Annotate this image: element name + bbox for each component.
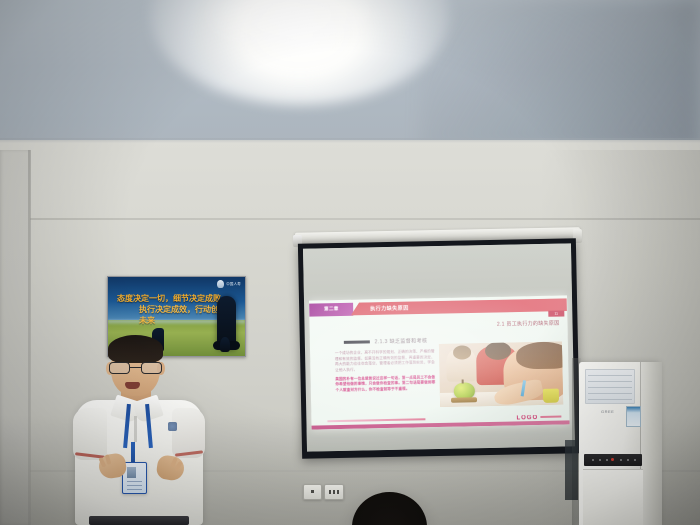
brand-mark-icon [217, 280, 224, 288]
slide-section-heading: 2.1.3 缺乏监督和考核 [375, 337, 428, 345]
projected-slide: 第二章 执行力缺失原因 11 2.1 员工执行力的缺失原因 2.1.3 缺乏监督… [309, 295, 569, 429]
dark-wall-panel [565, 440, 578, 500]
badge-photo [127, 467, 136, 478]
presenter-mouth [125, 382, 140, 389]
slide-page-number: 11 [554, 311, 558, 315]
glasses-lens-right [141, 362, 162, 374]
slide-header-banner: 执行力缺失原因 [351, 298, 567, 315]
air-conditioner[interactable]: GREE [579, 362, 662, 525]
poster-slogan-line1: 态度决定一切，细节决定成败 [117, 293, 227, 304]
presenter-shirt-placket [134, 416, 137, 442]
presenter-belt [89, 516, 189, 525]
poster-brand-text: 中国人寿 [226, 282, 241, 287]
photo-light-wash [439, 342, 564, 408]
glasses-bridge [130, 367, 141, 368]
ac-energy-sticker [626, 406, 641, 427]
poster-slogan-line2: 执行决定成效，行动创造未来 [139, 304, 227, 326]
heading-rule [344, 341, 370, 344]
slide-footer-rule-right [541, 416, 562, 418]
poster-brand-logo: 中国人寿 [217, 280, 241, 288]
slide-footer-rule-left [327, 418, 425, 421]
ac-lower-housing [583, 469, 643, 525]
ac-side-panel [641, 362, 662, 525]
ac-air-vent [585, 369, 635, 404]
wall-ceiling-junction [0, 138, 700, 143]
slide-subtitle: 2.1 员工执行力的缺失原因 [497, 320, 560, 328]
presenter [73, 338, 205, 525]
slide-paragraph-1: 一个成功的企业，离不开科学的规划、正确的决策、严格的管理和有效的监督。如果没有正… [335, 349, 436, 373]
ceiling-shadow [420, 0, 700, 150]
ac-power-indicator [611, 458, 614, 461]
ac-brand-label: GREE [601, 409, 614, 414]
presenter-shirt-logo [168, 422, 177, 431]
screen-top-band [303, 243, 572, 301]
slide-chapter-tag: 第二章 [309, 302, 353, 316]
slide-paragraph-2: 美国的朴有一位总裁曾说过这样一句话，第一点是员工不会做你希望他做的事情，只会做你… [335, 375, 436, 393]
glasses-lens-left [109, 362, 130, 374]
photo-scene: 中国人寿 态度决定一切，细节决定成败 执行决定成效，行动创造未来 第二章 执行力… [0, 0, 700, 525]
slide-page-badge: 11 [548, 310, 564, 317]
slide-section-heading-wrap: 2.1.3 缺乏监督和考核 [344, 337, 428, 346]
slide-classroom-photo [439, 342, 564, 408]
chess-pawn-piece-2 [220, 337, 230, 352]
poster-slogan: 态度决定一切，细节决定成败 执行决定成效，行动创造未来 [117, 293, 227, 326]
slide-body-text: 一个成功的企业，离不开科学的规划、正确的决策、严格的管理和有效的监督。如果没有正… [335, 349, 436, 397]
projection-screen: 第二章 执行力缺失原因 11 2.1 员工执行力的缺失原因 2.1.3 缺乏监督… [298, 238, 580, 459]
lanyard-strap-center [131, 442, 135, 464]
glasses-icon [109, 362, 162, 374]
presenter-hair [108, 335, 163, 363]
power-outlet-multi[interactable] [324, 484, 344, 500]
slide-banner-title: 执行力缺失原因 [370, 304, 409, 312]
screen-surface: 第二章 执行力缺失原因 11 2.1 员工执行力的缺失原因 2.1.3 缺乏监督… [303, 243, 575, 451]
power-outlet-single[interactable] [303, 484, 322, 500]
slide-chapter-text: 第二章 [324, 306, 339, 312]
ac-control-panel[interactable] [584, 454, 642, 466]
